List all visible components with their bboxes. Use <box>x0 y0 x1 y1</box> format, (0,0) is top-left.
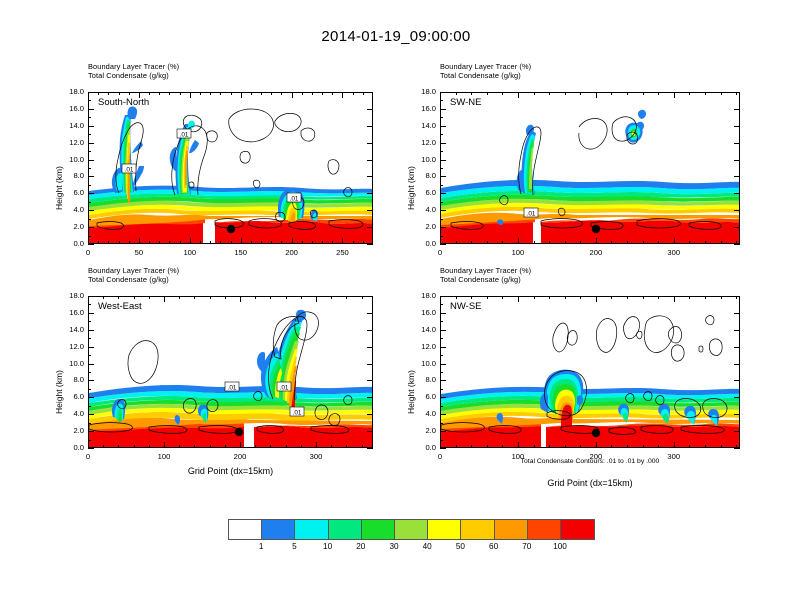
y-tick-mark <box>367 160 373 161</box>
panel-header: Boundary Layer Tracer (%) Total Condensa… <box>440 266 531 284</box>
location-marker <box>227 225 235 233</box>
x-minor-tick <box>322 241 323 244</box>
y-tick-label: 4.0 <box>54 205 84 214</box>
header-line-tracer: Boundary Layer Tracer (%) <box>440 266 531 275</box>
y-tick-label: 8.0 <box>406 375 436 384</box>
x-minor-tick <box>179 296 180 299</box>
colorbar-tick-label: 70 <box>512 542 542 551</box>
y-minor-tick <box>88 151 91 152</box>
x-minor-tick <box>549 92 550 95</box>
y-tick-label: 14.0 <box>54 325 84 334</box>
y-tick-label: 14.0 <box>54 121 84 130</box>
x-minor-tick <box>301 296 302 299</box>
x-minor-tick <box>159 92 160 95</box>
x-minor-tick <box>456 445 457 448</box>
y-tick-mark <box>734 143 740 144</box>
y-tick-mark <box>440 176 446 177</box>
x-minor-tick <box>134 296 135 299</box>
x-minor-tick <box>565 445 566 448</box>
x-tick-mark <box>190 238 191 244</box>
x-minor-tick <box>534 92 535 95</box>
y-minor-tick <box>440 440 443 441</box>
x-tick-label: 150 <box>226 248 256 257</box>
x-minor-tick <box>534 296 535 299</box>
header-line-condensate: Total Condensate (g/kg) <box>88 71 179 80</box>
y-minor-tick <box>440 151 443 152</box>
colorbar-tick-label: 40 <box>412 542 442 551</box>
x-tick-mark <box>164 442 165 448</box>
y-tick-mark <box>367 296 373 297</box>
y-tick-mark <box>440 160 446 161</box>
x-minor-tick <box>210 296 211 299</box>
y-tick-mark <box>88 313 94 314</box>
y-tick-mark <box>734 448 740 449</box>
colorbar-tick-label: 1 <box>246 542 276 551</box>
panel-label-sw-ne: SW-NE <box>450 97 482 108</box>
x-minor-tick <box>346 296 347 299</box>
x-minor-tick <box>565 241 566 244</box>
y-tick-label: 6.0 <box>54 188 84 197</box>
field-west-east: .01 .01 .01 <box>89 297 373 448</box>
y-tick-label: 8.0 <box>406 171 436 180</box>
y-tick-mark <box>734 313 740 314</box>
y-minor-tick <box>88 134 91 135</box>
x-minor-tick <box>149 296 150 299</box>
svg-text:.01: .01 <box>180 132 189 139</box>
header-line-condensate: Total Condensate (g/kg) <box>88 275 179 284</box>
y-minor-tick <box>440 202 443 203</box>
x-tick-mark <box>88 238 89 244</box>
y-tick-mark <box>88 431 94 432</box>
x-minor-tick <box>643 445 644 448</box>
colorbar-cell <box>495 520 528 539</box>
x-minor-tick <box>261 241 262 244</box>
y-tick-mark <box>88 397 94 398</box>
x-tick-mark <box>240 442 241 448</box>
y-tick-label: 0.0 <box>406 443 436 452</box>
x-tick-mark <box>518 92 519 98</box>
x-tick-mark <box>241 238 242 244</box>
x-tick-label: 200 <box>277 248 307 257</box>
y-tick-label: 12.0 <box>54 138 84 147</box>
x-minor-tick <box>456 241 457 244</box>
colorbar-tick-label: 30 <box>379 542 409 551</box>
panel-label-west-east: West-East <box>98 301 142 312</box>
y-tick-label: 2.0 <box>406 426 436 435</box>
y-tick-label: 4.0 <box>406 409 436 418</box>
y-minor-tick <box>440 236 443 237</box>
x-minor-tick <box>643 296 644 299</box>
y-tick-mark <box>367 143 373 144</box>
x-tick-mark <box>316 442 317 448</box>
x-minor-tick <box>471 92 472 95</box>
x-tick-label: 200 <box>225 452 255 461</box>
y-tick-mark <box>367 92 373 93</box>
x-minor-tick <box>103 445 104 448</box>
x-tick-mark <box>342 238 343 244</box>
x-minor-tick <box>580 445 581 448</box>
x-minor-tick <box>231 92 232 95</box>
y-tick-mark <box>734 397 740 398</box>
y-tick-mark <box>734 126 740 127</box>
x-minor-tick <box>118 445 119 448</box>
page-title: 2014-01-19_09:00:00 <box>0 28 792 45</box>
y-tick-label: 18.0 <box>406 87 436 96</box>
colorbar-cell <box>362 520 395 539</box>
x-minor-tick <box>200 92 201 95</box>
colorbar-tick-label: 100 <box>545 542 575 551</box>
colorbar-cell <box>561 520 594 539</box>
y-tick-mark <box>440 431 446 432</box>
x-minor-tick <box>180 241 181 244</box>
x-minor-tick <box>580 241 581 244</box>
y-tick-label: 14.0 <box>406 121 436 130</box>
y-tick-label: 12.0 <box>406 342 436 351</box>
y-minor-tick <box>88 321 91 322</box>
x-minor-tick <box>534 445 535 448</box>
y-tick-label: 0.0 <box>406 239 436 248</box>
x-tick-label: 300 <box>659 248 689 257</box>
y-minor-tick <box>88 168 91 169</box>
x-minor-tick <box>194 296 195 299</box>
y-tick-mark <box>440 380 446 381</box>
x-minor-tick <box>565 92 566 95</box>
y-tick-mark <box>88 414 94 415</box>
svg-text:.01: .01 <box>125 167 134 174</box>
y-tick-mark <box>440 193 446 194</box>
y-tick-label: 12.0 <box>406 138 436 147</box>
x-minor-tick <box>611 92 612 95</box>
x-minor-tick <box>149 241 150 244</box>
y-tick-label: 12.0 <box>54 342 84 351</box>
colorbar-cell <box>461 520 494 539</box>
field-nw-se <box>441 297 740 448</box>
plot-area-sw-ne: SW-NE <box>440 92 740 244</box>
y-tick-mark <box>734 193 740 194</box>
x-minor-tick <box>255 296 256 299</box>
x-minor-tick <box>502 241 503 244</box>
y-tick-mark <box>734 380 740 381</box>
y-tick-mark <box>88 160 94 161</box>
y-tick-mark <box>734 210 740 211</box>
x-minor-tick <box>108 92 109 95</box>
y-minor-tick <box>440 406 443 407</box>
colorbar-cell <box>295 520 328 539</box>
colorbar-tick-label: 60 <box>479 542 509 551</box>
x-axis-label-west-east: Grid Point (dx=15km) <box>88 466 373 476</box>
y-tick-label: 18.0 <box>54 291 84 300</box>
y-tick-mark <box>440 227 446 228</box>
x-minor-tick <box>302 241 303 244</box>
x-minor-tick <box>220 241 221 244</box>
x-minor-tick <box>118 296 119 299</box>
header-line-condensate: Total Condensate (g/kg) <box>440 275 531 284</box>
y-tick-mark <box>88 176 94 177</box>
y-tick-label: 18.0 <box>406 291 436 300</box>
x-minor-tick <box>332 241 333 244</box>
colorbar <box>228 519 595 540</box>
x-minor-tick <box>119 241 120 244</box>
y-tick-label: 10.0 <box>54 155 84 164</box>
x-tick-mark <box>440 92 441 98</box>
x-minor-tick <box>627 92 628 95</box>
x-minor-tick <box>721 241 722 244</box>
x-minor-tick <box>627 241 628 244</box>
x-minor-tick <box>736 445 737 448</box>
x-minor-tick <box>502 92 503 95</box>
x-tick-mark <box>440 442 441 448</box>
panel-header: Boundary Layer Tracer (%) Total Condensa… <box>88 62 179 80</box>
x-minor-tick <box>471 296 472 299</box>
x-minor-tick <box>362 445 363 448</box>
svg-text:.01: .01 <box>228 385 237 392</box>
x-minor-tick <box>736 92 737 95</box>
x-minor-tick <box>98 92 99 95</box>
x-minor-tick <box>689 241 690 244</box>
colorbar-tick-label: 50 <box>445 542 475 551</box>
x-tick-label: 100 <box>175 248 205 257</box>
y-minor-tick <box>88 117 91 118</box>
y-tick-mark <box>367 330 373 331</box>
y-minor-tick <box>440 423 443 424</box>
x-tick-mark <box>292 238 293 244</box>
colorbar-tick-label: 10 <box>313 542 343 551</box>
y-tick-mark <box>88 227 94 228</box>
y-tick-label: 10.0 <box>406 155 436 164</box>
plot-page: 2014-01-19_09:00:00 Boundary Layer Trace… <box>0 0 792 612</box>
x-tick-mark <box>596 92 597 98</box>
svg-text:.01: .01 <box>527 211 536 218</box>
field-south-north: .01 .01 .01 <box>89 93 373 244</box>
y-tick-mark <box>88 347 94 348</box>
x-minor-tick <box>169 92 170 95</box>
location-marker <box>592 429 600 437</box>
panel-header: Boundary Layer Tracer (%) Total Condensa… <box>440 62 531 80</box>
x-minor-tick <box>331 445 332 448</box>
x-tick-mark <box>440 296 441 302</box>
x-tick-label: 200 <box>581 248 611 257</box>
y-minor-tick <box>88 355 91 356</box>
x-minor-tick <box>261 92 262 95</box>
x-minor-tick <box>312 92 313 95</box>
y-minor-tick <box>440 100 443 101</box>
x-minor-tick <box>149 445 150 448</box>
y-tick-mark <box>367 313 373 314</box>
x-minor-tick <box>129 241 130 244</box>
colorbar-cell <box>229 520 262 539</box>
x-minor-tick <box>149 92 150 95</box>
x-minor-tick <box>736 241 737 244</box>
x-tick-mark <box>674 296 675 302</box>
y-tick-mark <box>367 227 373 228</box>
y-minor-tick <box>88 406 91 407</box>
header-line-condensate: Total Condensate (g/kg) <box>440 71 531 80</box>
x-minor-tick <box>119 92 120 95</box>
x-minor-tick <box>98 241 99 244</box>
y-tick-mark <box>88 330 94 331</box>
x-minor-tick <box>549 241 550 244</box>
x-minor-tick <box>721 296 722 299</box>
x-minor-tick <box>159 241 160 244</box>
x-minor-tick <box>643 241 644 244</box>
svg-text:.01: .01 <box>293 410 302 417</box>
x-minor-tick <box>251 92 252 95</box>
y-tick-label: 8.0 <box>54 375 84 384</box>
x-minor-tick <box>689 445 690 448</box>
x-minor-tick <box>103 296 104 299</box>
x-minor-tick <box>689 92 690 95</box>
y-tick-mark <box>88 193 94 194</box>
y-tick-mark <box>367 176 373 177</box>
y-tick-label: 4.0 <box>406 205 436 214</box>
x-minor-tick <box>658 241 659 244</box>
x-minor-tick <box>180 92 181 95</box>
y-tick-label: 6.0 <box>54 392 84 401</box>
x-minor-tick <box>255 445 256 448</box>
colorbar-cell <box>329 520 362 539</box>
y-tick-mark <box>440 126 446 127</box>
y-minor-tick <box>88 372 91 373</box>
x-minor-tick <box>301 445 302 448</box>
y-tick-mark <box>440 414 446 415</box>
x-minor-tick <box>281 92 282 95</box>
y-tick-mark <box>734 347 740 348</box>
x-tick-label: 50 <box>124 248 154 257</box>
y-tick-mark <box>88 143 94 144</box>
y-tick-mark <box>734 364 740 365</box>
x-minor-tick <box>129 92 130 95</box>
y-tick-label: 2.0 <box>406 222 436 231</box>
colorbar-cell <box>395 520 428 539</box>
y-tick-mark <box>734 414 740 415</box>
y-minor-tick <box>440 134 443 135</box>
x-minor-tick <box>346 445 347 448</box>
y-tick-mark <box>367 364 373 365</box>
x-tick-mark <box>88 442 89 448</box>
x-minor-tick <box>643 92 644 95</box>
x-tick-mark <box>139 238 140 244</box>
x-tick-mark <box>440 238 441 244</box>
y-tick-mark <box>88 448 94 449</box>
header-line-tracer: Boundary Layer Tracer (%) <box>88 62 179 71</box>
x-minor-tick <box>179 445 180 448</box>
y-tick-label: 4.0 <box>54 409 84 418</box>
x-tick-mark <box>518 296 519 302</box>
x-tick-mark <box>596 296 597 302</box>
y-tick-mark <box>734 330 740 331</box>
x-minor-tick <box>689 296 690 299</box>
x-tick-mark <box>88 92 89 98</box>
x-minor-tick <box>312 241 313 244</box>
x-tick-mark <box>518 442 519 448</box>
x-minor-tick <box>580 92 581 95</box>
y-minor-tick <box>88 185 91 186</box>
x-minor-tick <box>281 241 282 244</box>
x-minor-tick <box>627 296 628 299</box>
y-minor-tick <box>88 236 91 237</box>
y-tick-mark <box>88 380 94 381</box>
y-minor-tick <box>440 372 443 373</box>
svg-text:.01: .01 <box>280 385 289 392</box>
y-tick-mark <box>734 244 740 245</box>
x-minor-tick <box>302 92 303 95</box>
x-tick-mark <box>190 92 191 98</box>
x-minor-tick <box>225 445 226 448</box>
x-minor-tick <box>721 445 722 448</box>
x-tick-mark <box>241 92 242 98</box>
y-minor-tick <box>88 202 91 203</box>
y-tick-mark <box>367 380 373 381</box>
x-minor-tick <box>549 445 550 448</box>
plot-area-south-north: South-North <box>88 92 373 244</box>
y-tick-mark <box>734 227 740 228</box>
y-tick-mark <box>440 397 446 398</box>
x-minor-tick <box>225 296 226 299</box>
y-tick-mark <box>88 210 94 211</box>
y-tick-mark <box>440 109 446 110</box>
y-minor-tick <box>440 219 443 220</box>
y-minor-tick <box>440 304 443 305</box>
y-tick-label: 10.0 <box>406 359 436 368</box>
x-tick-label: 0 <box>73 452 103 461</box>
x-minor-tick <box>627 445 628 448</box>
x-tick-label: 0 <box>425 248 455 257</box>
y-minor-tick <box>88 440 91 441</box>
y-tick-mark <box>367 397 373 398</box>
y-minor-tick <box>440 185 443 186</box>
y-tick-mark <box>367 210 373 211</box>
x-minor-tick <box>658 445 659 448</box>
x-axis-label-nw-se: Grid Point (dx=15km) <box>440 478 740 488</box>
y-tick-mark <box>367 431 373 432</box>
x-tick-mark <box>596 238 597 244</box>
y-tick-mark <box>88 364 94 365</box>
x-minor-tick <box>658 296 659 299</box>
x-minor-tick <box>534 241 535 244</box>
x-minor-tick <box>487 445 488 448</box>
x-minor-tick <box>502 445 503 448</box>
colorbar-tick-label: 5 <box>279 542 309 551</box>
x-tick-label: 100 <box>503 248 533 257</box>
y-tick-label: 6.0 <box>406 392 436 401</box>
x-minor-tick <box>210 241 211 244</box>
x-minor-tick <box>487 92 488 95</box>
plot-area-nw-se: NW-SE <box>440 296 740 448</box>
header-line-tracer: Boundary Layer Tracer (%) <box>440 62 531 71</box>
x-minor-tick <box>286 296 287 299</box>
y-minor-tick <box>440 338 443 339</box>
y-tick-mark <box>440 448 446 449</box>
y-tick-mark <box>440 364 446 365</box>
x-minor-tick <box>353 92 354 95</box>
y-tick-mark <box>734 431 740 432</box>
y-tick-label: 0.0 <box>54 239 84 248</box>
x-tick-label: 300 <box>301 452 331 461</box>
y-tick-mark <box>440 347 446 348</box>
y-minor-tick <box>440 321 443 322</box>
x-minor-tick <box>611 241 612 244</box>
y-tick-mark <box>367 193 373 194</box>
y-tick-label: 16.0 <box>406 104 436 113</box>
x-tick-mark <box>316 296 317 302</box>
y-minor-tick <box>88 304 91 305</box>
x-tick-label: 100 <box>149 452 179 461</box>
y-tick-label: 0.0 <box>54 443 84 452</box>
x-minor-tick <box>362 296 363 299</box>
y-tick-mark <box>440 330 446 331</box>
x-minor-tick <box>705 241 706 244</box>
y-tick-mark <box>88 109 94 110</box>
